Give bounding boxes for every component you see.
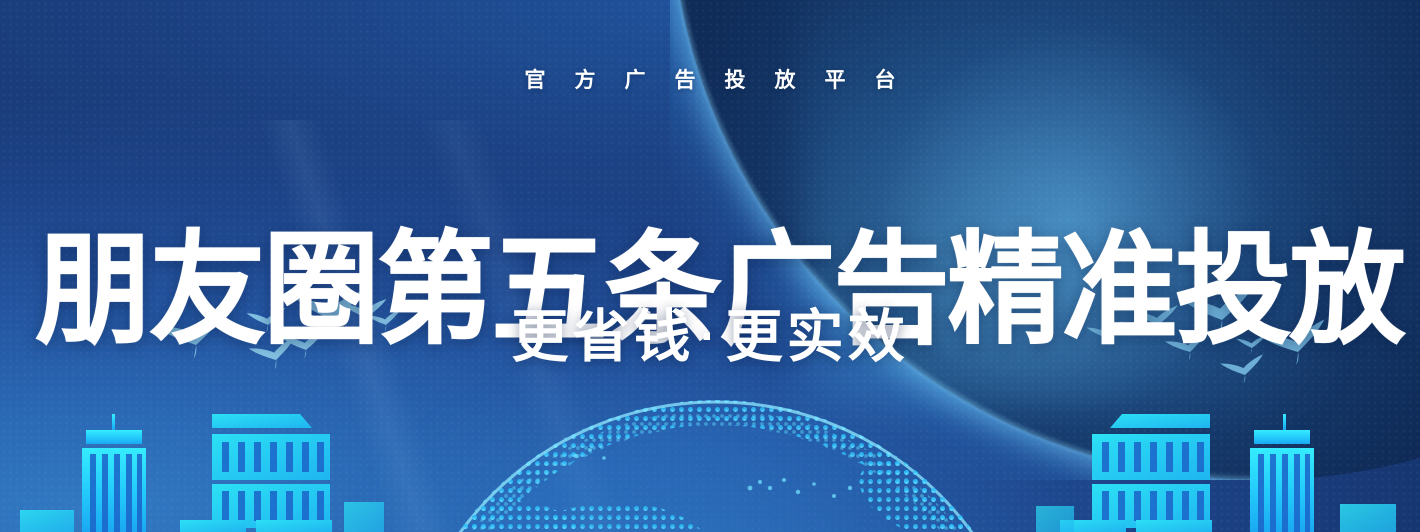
banner-tagline: 更省钱·更实效 [0, 306, 1420, 369]
promo-banner: 官方广告投放平台 朋友圈第五条广告精准投放 更省钱·更实效 [0, 0, 1420, 532]
tagline-separator-dot: · [700, 311, 719, 362]
banner-content: 官方广告投放平台 朋友圈第五条广告精准投放 更省钱·更实效 [0, 0, 1420, 532]
tagline-left: 更省钱 [511, 305, 694, 369]
banner-eyebrow: 官方广告投放平台 [0, 70, 1420, 91]
tagline-right: 更实效 [726, 305, 909, 369]
